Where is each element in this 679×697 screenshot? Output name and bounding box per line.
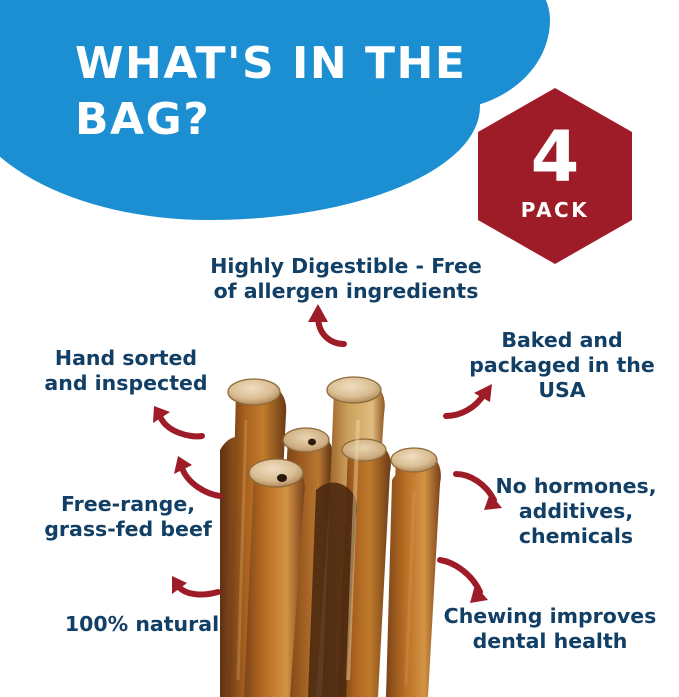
arrow-to-highly-digestible-icon: [292, 300, 362, 348]
callout-dental-health: Chewing improves dental health: [434, 604, 666, 654]
arrow-to-baked-usa-icon: [436, 374, 506, 422]
callout-highly-digestible: Highly Digestible - Free of allergen ing…: [186, 254, 506, 304]
callout-dental-health-line2: dental health: [434, 629, 666, 654]
arrow-to-no-hormones-icon: [446, 460, 516, 516]
page-title: WHAT'S IN THE BAG?: [75, 36, 505, 149]
callout-free-range-line2: grass-fed beef: [28, 517, 228, 542]
arrow-to-natural-icon: [160, 552, 230, 606]
pack-count-number: 4: [531, 124, 580, 191]
callout-natural-line1: 100% natural: [52, 612, 232, 637]
product-image-bully-sticks: [196, 330, 466, 697]
arrow-to-dental-health-icon: [432, 548, 506, 610]
page-title-line2: BAG?: [75, 92, 505, 148]
page-title-line1: WHAT'S IN THE: [75, 38, 466, 89]
callout-natural: 100% natural: [52, 612, 232, 637]
pack-count-label: PACK: [521, 198, 589, 222]
callout-no-hormones-line3: chemicals: [486, 524, 666, 549]
callout-highly-digestible-line1: Highly Digestible - Free: [186, 254, 506, 279]
arrow-to-hand-sorted-icon: [140, 388, 212, 444]
callout-hand-sorted-line1: Hand sorted: [36, 346, 216, 371]
arrow-to-free-range-icon: [166, 442, 236, 506]
callout-baked-usa-line1: Baked and: [462, 328, 662, 353]
